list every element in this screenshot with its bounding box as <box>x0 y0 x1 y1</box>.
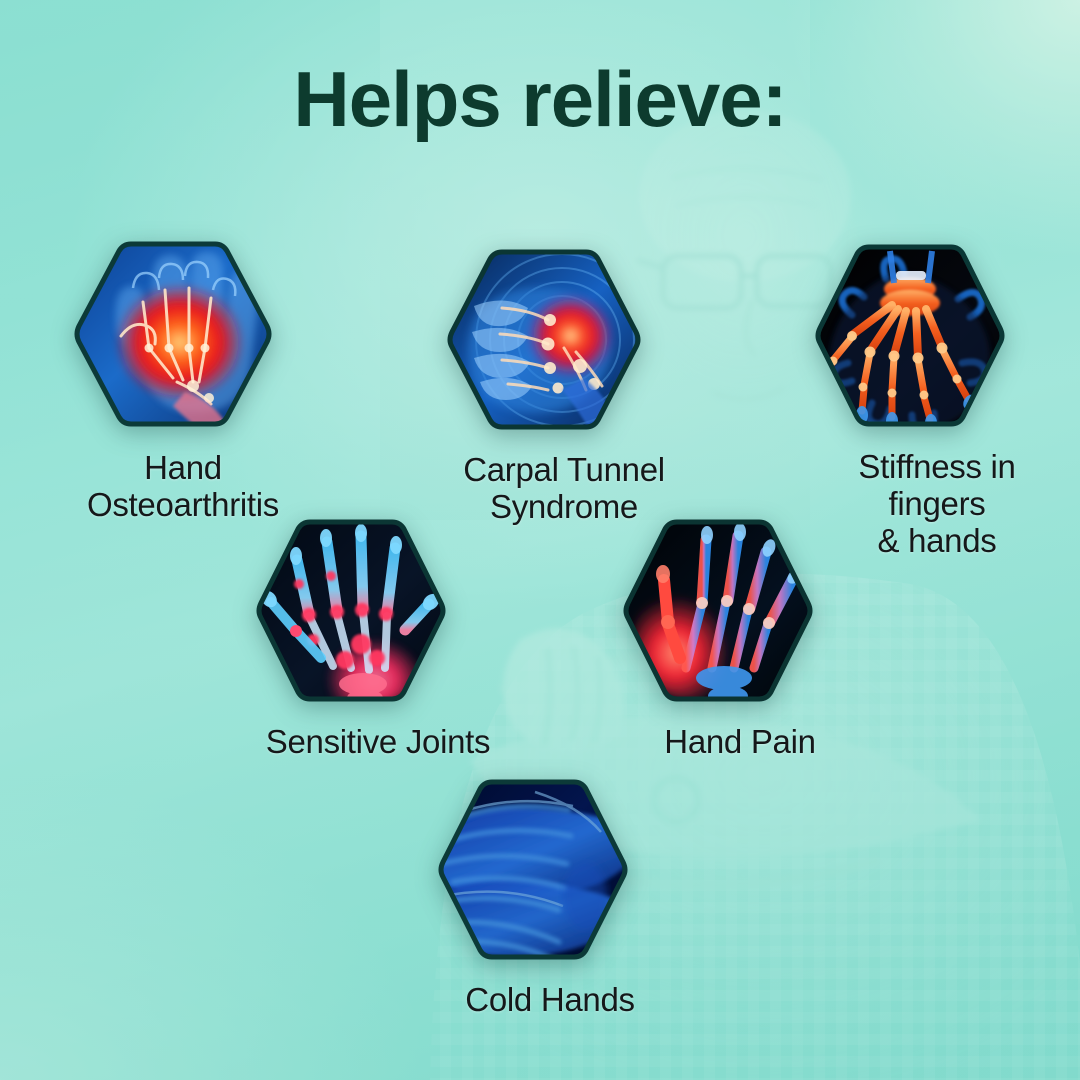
hex-badge <box>73 240 293 436</box>
feature-label: Hand Pain <box>620 724 860 761</box>
feature-carpal-tunnel-syndrome[interactable]: Carpal Tunnel Syndrome <box>444 248 684 526</box>
feature-stiffness-in-fingers-and-hands[interactable]: Stiffness in fingers & hands <box>812 243 1062 560</box>
infographic-canvas: Helps relieve: <box>0 0 1080 1080</box>
xray-clenched-hand-wrist-pain-icon <box>444 248 684 438</box>
hex-badge <box>620 518 860 710</box>
feature-hand-osteoarthritis[interactable]: Hand Osteoarthritis <box>73 240 293 524</box>
xray-hand-highlighted-joints-icon <box>253 518 503 710</box>
feature-sensitive-joints[interactable]: Sensitive Joints <box>253 518 503 761</box>
feature-label: Cold Hands <box>435 982 665 1019</box>
page-title: Helps relieve: <box>0 60 1080 138</box>
background-highlight-bottom-left <box>0 780 420 1080</box>
feature-label: Carpal Tunnel Syndrome <box>444 452 684 526</box>
feature-cold-hands[interactable]: Cold Hands <box>435 778 665 1019</box>
hex-badge <box>253 518 503 710</box>
hex-badge <box>435 778 665 968</box>
hex-badge <box>444 248 684 438</box>
feature-hand-pain[interactable]: Hand Pain <box>620 518 860 761</box>
xray-skeleton-hand-orange-bones-icon <box>812 243 1062 435</box>
feature-label: Sensitive Joints <box>253 724 503 761</box>
hex-badge <box>812 243 1062 435</box>
thermal-blue-cold-hands-icon <box>435 778 665 968</box>
xray-hand-inflamed-red-icon <box>73 240 293 436</box>
xray-hand-red-pain-zone-icon <box>620 518 860 710</box>
feature-label: Hand Osteoarthritis <box>73 450 293 524</box>
